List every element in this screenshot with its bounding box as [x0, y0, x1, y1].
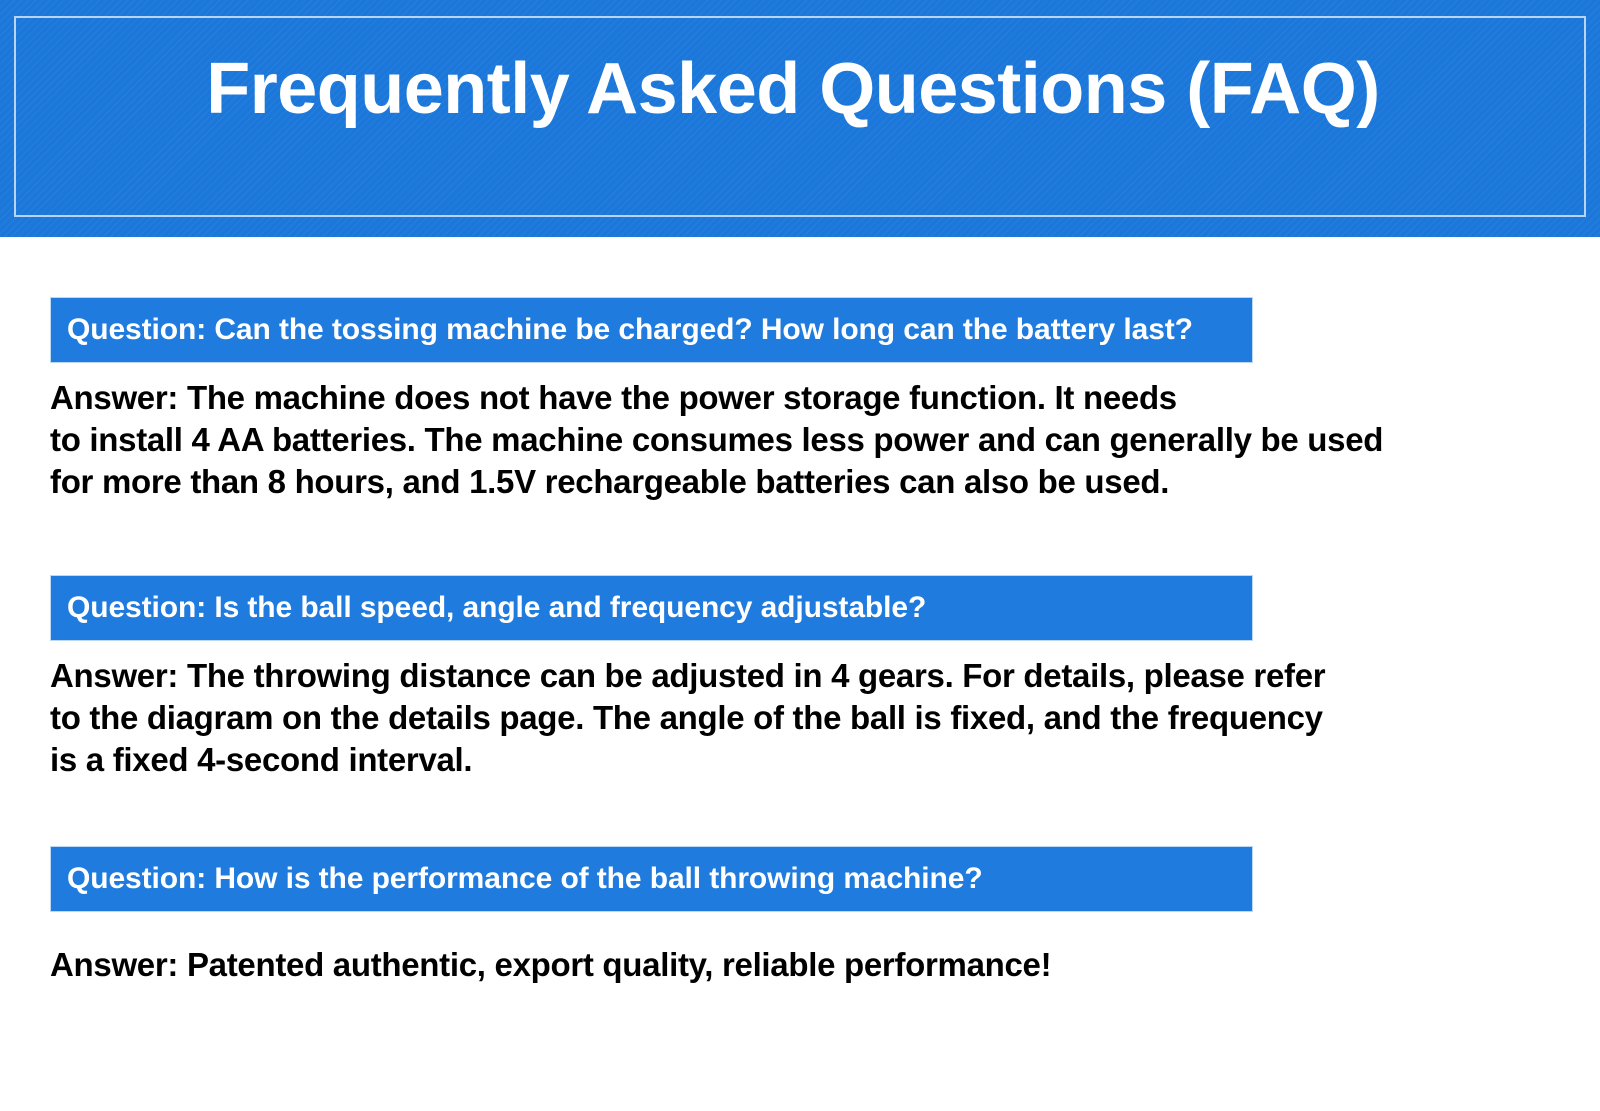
- answer-text: Answer: Patented authentic, export quali…: [50, 944, 1550, 986]
- question-bar[interactable]: Question: How is the performance of the …: [50, 846, 1253, 912]
- question-bar[interactable]: Question: Can the tossing machine be cha…: [50, 297, 1253, 363]
- header-banner: Frequently Asked Questions (FAQ): [0, 0, 1600, 237]
- question-bar[interactable]: Question: Is the ball speed, angle and f…: [50, 575, 1253, 641]
- faq-item: Question: How is the performance of the …: [0, 846, 1600, 986]
- faq-item: Question: Is the ball speed, angle and f…: [0, 575, 1600, 782]
- question-text: Question: Is the ball speed, angle and f…: [51, 593, 926, 623]
- faq-list: Question: Can the tossing machine be cha…: [0, 237, 1600, 1111]
- answer-text: Answer: The machine does not have the po…: [50, 377, 1550, 504]
- question-text: Question: How is the performance of the …: [51, 864, 983, 894]
- answer-text: Answer: The throwing distance can be adj…: [50, 655, 1550, 782]
- question-text: Question: Can the tossing machine be cha…: [51, 315, 1193, 345]
- faq-item: Question: Can the tossing machine be cha…: [0, 297, 1600, 504]
- page-title: Frequently Asked Questions (FAQ): [0, 52, 1600, 127]
